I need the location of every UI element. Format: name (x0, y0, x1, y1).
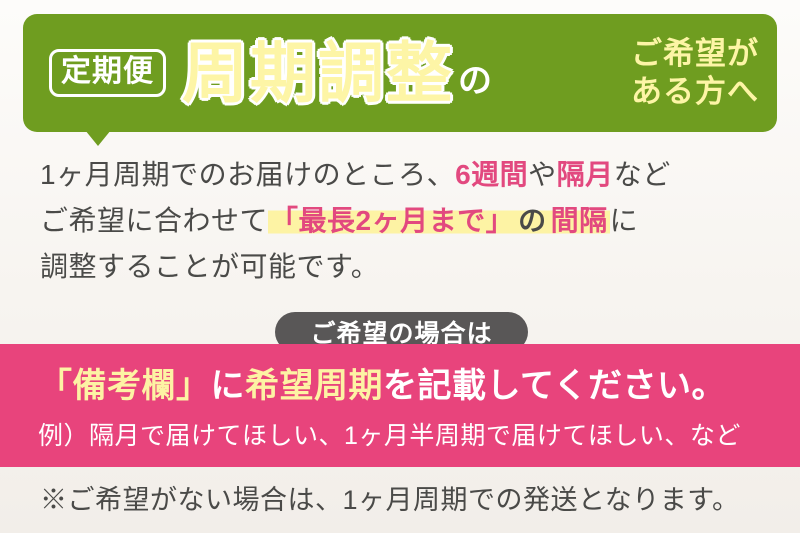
description-line-2: ご希望に合わせて「最長2ヶ月まで」の間隔に (40, 198, 770, 244)
instruction-example: 例）隔月で届けてほしい、1ヶ月半周期で届けてほしい、など (38, 416, 741, 452)
desc-1-e: など (614, 159, 671, 190)
banner-subtitle-line2: ある方へ (631, 73, 759, 111)
instruction-band: 「備考欄」に希望周期を記載してください。 例）隔月で届けてほしい、1ヶ月半周期で… (0, 344, 800, 467)
footer-note: ※ご希望がない場合は、1ヶ月周期での発送となります。 (40, 478, 740, 517)
desc-1-d: 隔月 (557, 159, 614, 190)
banner-subtitle: ご希望が ある方へ (631, 35, 759, 111)
banner-pointer (85, 130, 111, 146)
banner-body: 定期便 周期調整 の ご希望が ある方へ (23, 14, 777, 132)
banner-title: 周期調整 (182, 40, 454, 106)
subscription-badge: 定期便 (49, 49, 166, 97)
description-line-3: 調整することが可能です。 (40, 244, 770, 290)
promo-page: 定期便 周期調整 の ご希望が ある方へ 1ヶ月周期でのお届けのところ、6週間や… (0, 0, 800, 533)
header-banner: 定期便 周期調整 の ご希望が ある方へ (23, 14, 777, 132)
description-line-1: 1ヶ月周期でのお届けのところ、6週間や隔月など (40, 152, 770, 198)
description-paragraph: 1ヶ月周期でのお届けのところ、6週間や隔月など ご希望に合わせて「最長2ヶ月まで… (40, 152, 770, 290)
instruction-a: に (211, 367, 246, 405)
desc-1-c: や (528, 159, 557, 190)
instruction-desired-cycle: 希望周期 (245, 367, 383, 405)
instruction-b: を記載してください。 (383, 367, 726, 405)
desc-2-d: 間隔 (549, 205, 610, 236)
instruction-remarks-field: 「備考欄」 (38, 367, 211, 405)
desc-1-a: 1ヶ月周期でのお届けのところ、 (40, 159, 455, 190)
desc-2-b: 「最長2ヶ月まで」 (268, 205, 516, 236)
desc-2-a: ご希望に合わせて (40, 205, 268, 236)
banner-title-particle: の (458, 64, 492, 98)
desc-2-c: の (516, 205, 549, 236)
desc-1-b: 6週間 (455, 159, 528, 190)
instruction-main: 「備考欄」に希望周期を記載してください。 (38, 358, 726, 407)
banner-title-group: 周期調整 の (182, 40, 621, 106)
desc-2-e: に (610, 205, 639, 236)
banner-subtitle-line1: ご希望が (631, 35, 759, 73)
